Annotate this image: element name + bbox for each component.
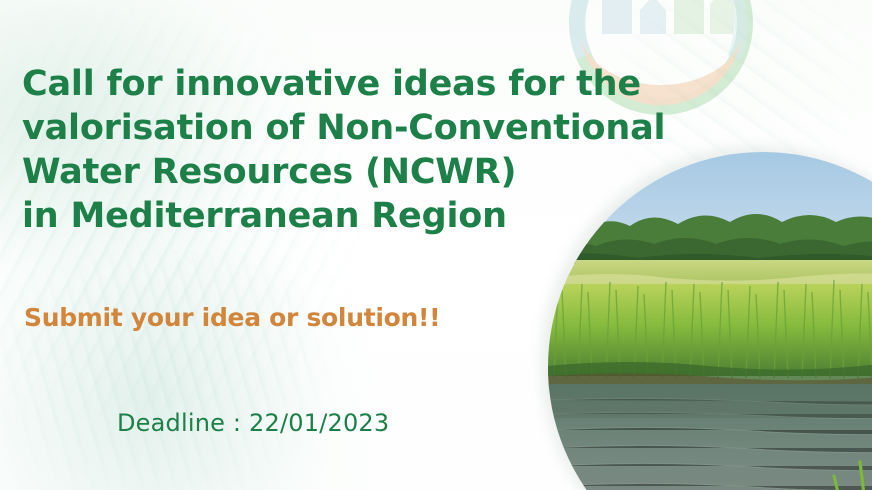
page-title: Call for innovative ideas for the valori…	[22, 62, 742, 238]
water-splash-texture	[0, 250, 390, 490]
call-to-action-text: Submit your idea or solution!!	[24, 303, 440, 332]
deadline-text: Deadline : 22/01/2023	[117, 409, 389, 437]
poster-canvas: Call for innovative ideas for the valori…	[0, 0, 872, 490]
